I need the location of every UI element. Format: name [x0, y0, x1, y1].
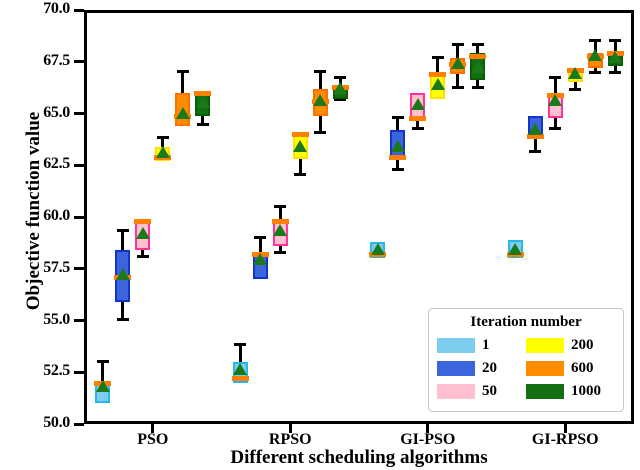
- y-tick-label: 55.0: [8, 311, 70, 329]
- mean-marker-triangle: [313, 94, 327, 106]
- mean-marker-triangle: [136, 227, 150, 239]
- legend-label-50: 50: [482, 384, 497, 399]
- mean-marker-triangle: [411, 98, 425, 110]
- legend-swatch-20: [437, 361, 475, 376]
- y-tick-label: 65.0: [8, 104, 70, 122]
- whisker-cap-upper: [234, 343, 246, 346]
- whisker-cap-upper: [452, 43, 464, 46]
- y-tick-label: 52.5: [8, 362, 70, 380]
- median-line: [389, 155, 406, 160]
- y-tick-mark: [74, 9, 84, 12]
- legend-swatch-200: [526, 338, 564, 353]
- mean-marker-triangle: [451, 57, 465, 69]
- legend-item-200[interactable]: 200: [526, 334, 615, 357]
- mean-marker-triangle: [508, 243, 522, 255]
- legend-item-1[interactable]: 1: [437, 334, 526, 357]
- median-line: [292, 132, 309, 137]
- mean-marker-triangle: [253, 253, 267, 265]
- whisker-cap-upper: [254, 236, 266, 239]
- y-tick-mark: [74, 371, 84, 374]
- y-tick-label: 70.0: [8, 0, 70, 18]
- mean-marker-triangle: [196, 96, 210, 108]
- median-line: [469, 54, 486, 59]
- whisker-cap-upper: [472, 43, 484, 46]
- y-tick-mark: [74, 216, 84, 219]
- mean-marker-triangle: [588, 49, 602, 61]
- mean-marker-triangle: [156, 146, 170, 158]
- x-tick-label-pso: PSO: [83, 431, 223, 449]
- whisker-cap-lower: [609, 71, 621, 74]
- y-tick-mark: [74, 164, 84, 167]
- whisker-cap-upper: [157, 136, 169, 139]
- mean-marker-triangle: [273, 224, 287, 236]
- whisker-cap-lower: [117, 318, 129, 321]
- whisker-cap-upper: [589, 39, 601, 42]
- legend-swatch-600: [526, 361, 564, 376]
- whisker-cap-upper: [177, 70, 189, 73]
- y-tick-label: 62.5: [8, 155, 70, 173]
- median-line: [272, 219, 289, 224]
- legend-swatch-1000: [526, 384, 564, 399]
- whisker-cap-upper: [609, 39, 621, 42]
- whisker-cap-lower: [569, 88, 581, 91]
- y-tick-mark: [74, 60, 84, 63]
- mean-marker-triangle: [608, 51, 622, 63]
- legend-title: Iteration number: [437, 314, 615, 331]
- x-axis-title: Different scheduling algorithms: [84, 447, 634, 469]
- y-tick-label: 50.0: [8, 414, 70, 432]
- whisker-cap-lower: [529, 150, 541, 153]
- mean-marker-triangle: [371, 243, 385, 255]
- whisker-cap-lower: [452, 86, 464, 89]
- x-tick-label-gi-rpso: GI-RPSO: [495, 431, 635, 449]
- legend: Iteration number 120020600501000: [428, 308, 624, 412]
- whisker-upper: [101, 360, 104, 381]
- y-tick-label: 60.0: [8, 207, 70, 225]
- whisker-cap-lower: [197, 123, 209, 126]
- mean-marker-triangle: [233, 363, 247, 375]
- mean-marker-triangle: [471, 61, 485, 73]
- whisker-cap-upper: [392, 116, 404, 119]
- mean-marker-triangle: [528, 123, 542, 135]
- whisker-cap-upper: [314, 70, 326, 73]
- median-line: [194, 91, 211, 96]
- whisker-cap-upper: [334, 76, 346, 79]
- legend-label-1000: 1000: [571, 384, 601, 399]
- whisker-cap-upper: [549, 76, 561, 79]
- legend-items: 120020600501000: [437, 334, 615, 403]
- mean-marker-triangle: [96, 380, 110, 392]
- y-tick-label: 67.5: [8, 52, 70, 70]
- legend-label-200: 200: [571, 338, 594, 353]
- mean-marker-triangle: [176, 107, 190, 119]
- legend-swatch-1: [437, 338, 475, 353]
- whisker-cap-lower: [472, 86, 484, 89]
- median-line: [429, 72, 446, 77]
- legend-label-600: 600: [571, 361, 594, 376]
- whisker-cap-upper: [117, 229, 129, 232]
- whisker-cap-lower: [314, 131, 326, 134]
- mean-marker-triangle: [333, 82, 347, 94]
- x-tick-label-rpso: RPSO: [220, 431, 360, 449]
- chart-root: Objective function value Different sched…: [0, 0, 640, 470]
- whisker-cap-upper: [274, 205, 286, 208]
- mean-marker-triangle: [391, 140, 405, 152]
- whisker-upper: [181, 70, 184, 93]
- legend-item-20[interactable]: 20: [437, 357, 526, 380]
- legend-swatch-50: [437, 384, 475, 399]
- y-tick-label: 57.5: [8, 259, 70, 277]
- legend-label-20: 20: [482, 361, 497, 376]
- legend-item-600[interactable]: 600: [526, 357, 615, 380]
- whisker-cap-upper: [432, 56, 444, 59]
- whisker-cap-lower: [294, 173, 306, 176]
- mean-marker-triangle: [116, 268, 130, 280]
- mean-marker-triangle: [568, 67, 582, 79]
- whisker-cap-lower: [589, 71, 601, 74]
- whisker-cap-lower: [137, 255, 149, 258]
- legend-item-50[interactable]: 50: [437, 380, 526, 403]
- median-line: [409, 116, 426, 121]
- y-tick-mark: [74, 319, 84, 322]
- whisker-cap-lower: [274, 251, 286, 254]
- legend-label-1: 1: [482, 338, 490, 353]
- y-tick-mark: [74, 267, 84, 270]
- median-line: [232, 376, 249, 381]
- mean-marker-triangle: [293, 140, 307, 152]
- legend-item-1000[interactable]: 1000: [526, 380, 615, 403]
- mean-marker-triangle: [548, 94, 562, 106]
- whisker-cap-lower: [392, 168, 404, 171]
- median-line: [134, 219, 151, 224]
- x-tick-label-gi-pso: GI-PSO: [358, 431, 498, 449]
- whisker-cap-lower: [412, 127, 424, 130]
- y-tick-mark: [74, 112, 84, 115]
- whisker-cap-upper: [97, 360, 109, 363]
- whisker-cap-lower: [549, 127, 561, 130]
- mean-marker-triangle: [431, 78, 445, 90]
- y-tick-mark: [74, 423, 84, 426]
- whisker-upper: [121, 229, 124, 250]
